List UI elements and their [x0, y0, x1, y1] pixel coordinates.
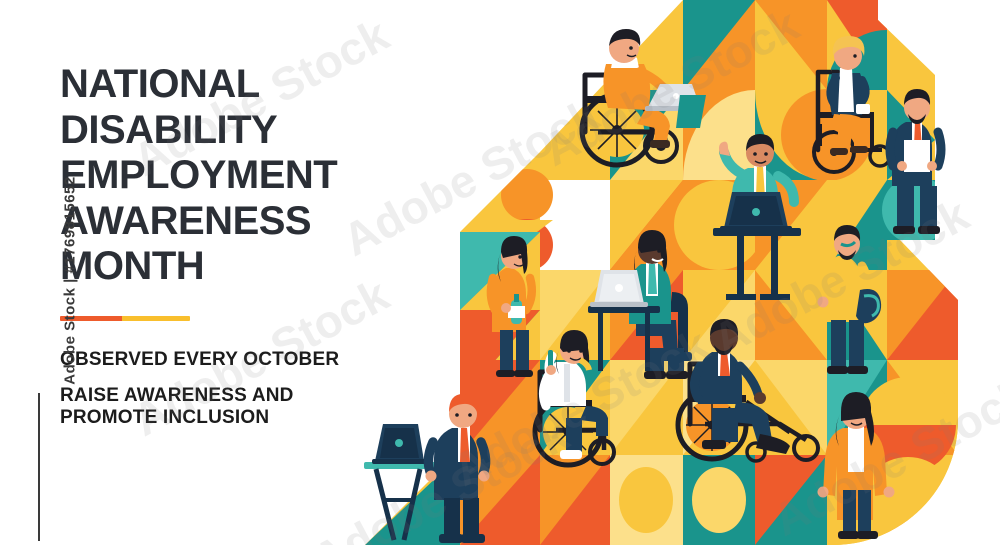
- watermark-rule: [38, 393, 40, 541]
- adobe-stock-watermark-vertical: Adobe Stock | #1769815652: [62, 131, 79, 431]
- page-title-line-1: NATIONAL DISABILITY: [60, 62, 277, 152]
- page-title: NATIONAL DISABILITYEMPLOYMENTAWARENESS M…: [60, 62, 460, 290]
- poster-canvas: NATIONAL DISABILITYEMPLOYMENTAWARENESS M…: [0, 0, 1000, 545]
- tagline-line-1: RAISE AWARENESS AND: [60, 385, 294, 406]
- page-title-line-3: AWARENESS MONTH: [60, 199, 311, 289]
- accent-divider-right: [122, 316, 190, 321]
- accent-divider: [60, 316, 190, 321]
- observance-date-text: OBSERVED EVERY OCTOBER: [60, 349, 460, 371]
- tagline-text: RAISE AWARENESS ANDPROMOTE INCLUSION: [60, 385, 460, 429]
- page-title-line-2: EMPLOYMENT: [60, 153, 337, 197]
- tagline-line-2: PROMOTE INCLUSION: [60, 407, 269, 428]
- headline-block: NATIONAL DISABILITYEMPLOYMENTAWARENESS M…: [60, 62, 460, 429]
